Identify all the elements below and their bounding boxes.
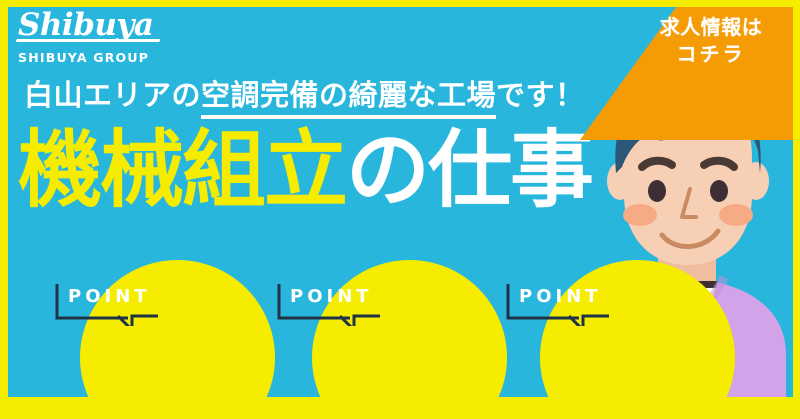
point-label-1: POINT — [54, 282, 172, 326]
subtitle-suffix: です！ — [496, 78, 585, 112]
point-label-text-3: POINT — [519, 286, 602, 307]
job-ad-banner: 求人情報は コチラ — [0, 0, 800, 419]
cheek-right — [719, 204, 753, 226]
eye-left — [648, 180, 666, 202]
bottom-yellow-band — [0, 397, 800, 419]
cheek-left — [623, 204, 657, 226]
corner-ribbon-text[interactable]: 求人情報は コチラ — [636, 14, 786, 68]
headline-rest: の仕事 — [346, 121, 592, 219]
point-label-text-2: POINT — [290, 286, 373, 307]
point-label-3: POINT — [505, 282, 623, 326]
page-title: 機械組立の仕事 — [18, 128, 592, 212]
subtitle: 白山エリアの空調完備の綺麗な工場です！ — [24, 72, 585, 114]
logo-subtitle: SHIBUYA GROUP — [18, 50, 154, 65]
point-label-2: POINT — [276, 282, 394, 326]
headline-highlight: 機械組立 — [18, 121, 346, 219]
corner-ribbon-line1: 求人情報は — [636, 14, 786, 41]
shibuya-logo[interactable]: Shibuya SHIBUYA GROUP — [18, 10, 154, 65]
subtitle-prefix: 白山エリアの — [24, 78, 201, 112]
eye-right — [710, 180, 728, 202]
logo-wordmark: Shibuya — [18, 10, 154, 43]
point-label-text-1: POINT — [68, 286, 151, 307]
corner-ribbon-line2: コチラ — [636, 41, 786, 68]
subtitle-underlined: 空調完備の綺麗な工場 — [201, 78, 496, 119]
